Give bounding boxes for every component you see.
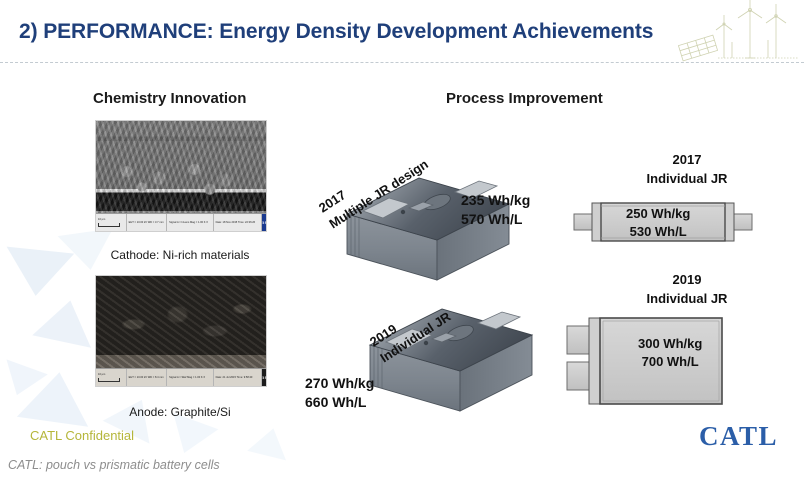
prismatic-2019-volumetric: 660 Wh/L [305,393,374,412]
sem-field-2: Signal A = InLens Mag = 1.00 K X [167,214,213,231]
sem-scale-label: 10 µm [98,218,124,221]
sem-field-2: Signal A = SE2 Mag = 1.00 K X [167,369,213,386]
pouch-2019-year: 2019 [602,271,772,290]
background-triangle-decoration [0,359,48,402]
cathode-sem-image: 10 µm EHT = 10.00 kV WD = 3.7 mm Signal … [95,120,267,232]
section-heading-process: Process Improvement [446,90,603,107]
anode-caption: Anode: Graphite/Si [50,405,310,419]
prismatic-2019-gravimetric: 270 Wh/kg [305,374,374,393]
prismatic-2019-spec: 270 Wh/kg 660 Wh/L [305,374,374,412]
pouch-2017-gravimetric: 250 Wh/kg [626,205,690,223]
cathode-sem-databar: 10 µm EHT = 10.00 kV WD = 3.7 mm Signal … [96,213,266,231]
prismatic-2017-gravimetric: 235 Wh/kg [461,191,530,210]
sem-field-1: EHT = 10.00 kV WD = 3.7 mm [127,214,168,231]
slide-footnote-caption: CATL: pouch vs prismatic battery cells [8,458,220,472]
pouch-2019-design: Individual JR [602,290,772,309]
prismatic-2017-spec: 235 Wh/kg 570 Wh/L [461,191,530,229]
sem-field-3: Date: 18 Nov 2015 Time: 22:36:26 [214,214,262,231]
cathode-sem-micrograph: 10 µm EHT = 10.00 kV WD = 3.7 mm Signal … [95,120,267,232]
sem-vendor-logo: ZEISS [262,369,266,386]
sem-field-1: EHT = 10.00 kV WD = 8.4 mm [127,369,168,386]
pouch-2017-title: 2017 Individual JR [602,151,772,189]
anode-sem-micrograph: 10 µm EHT = 10.00 kV WD = 8.4 mm Signal … [95,275,267,387]
background-triangle-decoration [162,413,219,461]
sem-scale-bar [98,223,120,227]
background-triangle-decoration [32,294,99,348]
sem-scale-cell: 10 µm [96,214,127,231]
pouch-2019-spec: 300 Wh/kg 700 Wh/L [638,335,702,370]
sem-scale-cell: 10 µm [96,369,127,386]
slide-title: 2) PERFORMANCE: Energy Density Developme… [19,20,653,44]
anode-sem-databar: 10 µm EHT = 10.00 kV WD = 8.4 mm Signal … [96,368,266,386]
cathode-caption: Cathode: Ni-rich materials [50,248,310,262]
pouch-2017-spec: 250 Wh/kg 530 Wh/L [626,205,690,240]
pouch-2017-year: 2017 [602,151,772,170]
wind-turbine-illustration [658,0,798,66]
pouch-2017-design: Individual JR [602,170,772,189]
sem-scale-bar [98,378,120,382]
catl-logo: CATL [699,421,778,452]
header-divider [0,62,804,63]
section-heading-chemistry: Chemistry Innovation [93,90,246,107]
anode-sem-image: 10 µm EHT = 10.00 kV WD = 8.4 mm Signal … [95,275,267,387]
background-triangle-decoration [247,424,293,461]
pouch-2019-title: 2019 Individual JR [602,271,772,309]
sem-field-3: Date: 21 Jul 2015 Time: 9:58:40 [214,369,262,386]
slide-canvas: 2) PERFORMANCE: Energy Density Developme… [0,0,804,479]
sem-vendor-logo: ZEISS [262,214,266,231]
confidential-notice: CATL Confidential [30,428,134,443]
pouch-2019-volumetric: 700 Wh/L [638,353,702,371]
pouch-2017-volumetric: 530 Wh/L [626,223,690,241]
pouch-2019-gravimetric: 300 Wh/kg [638,335,702,353]
prismatic-2017-volumetric: 570 Wh/L [461,210,530,229]
sem-scale-label: 10 µm [98,373,124,376]
